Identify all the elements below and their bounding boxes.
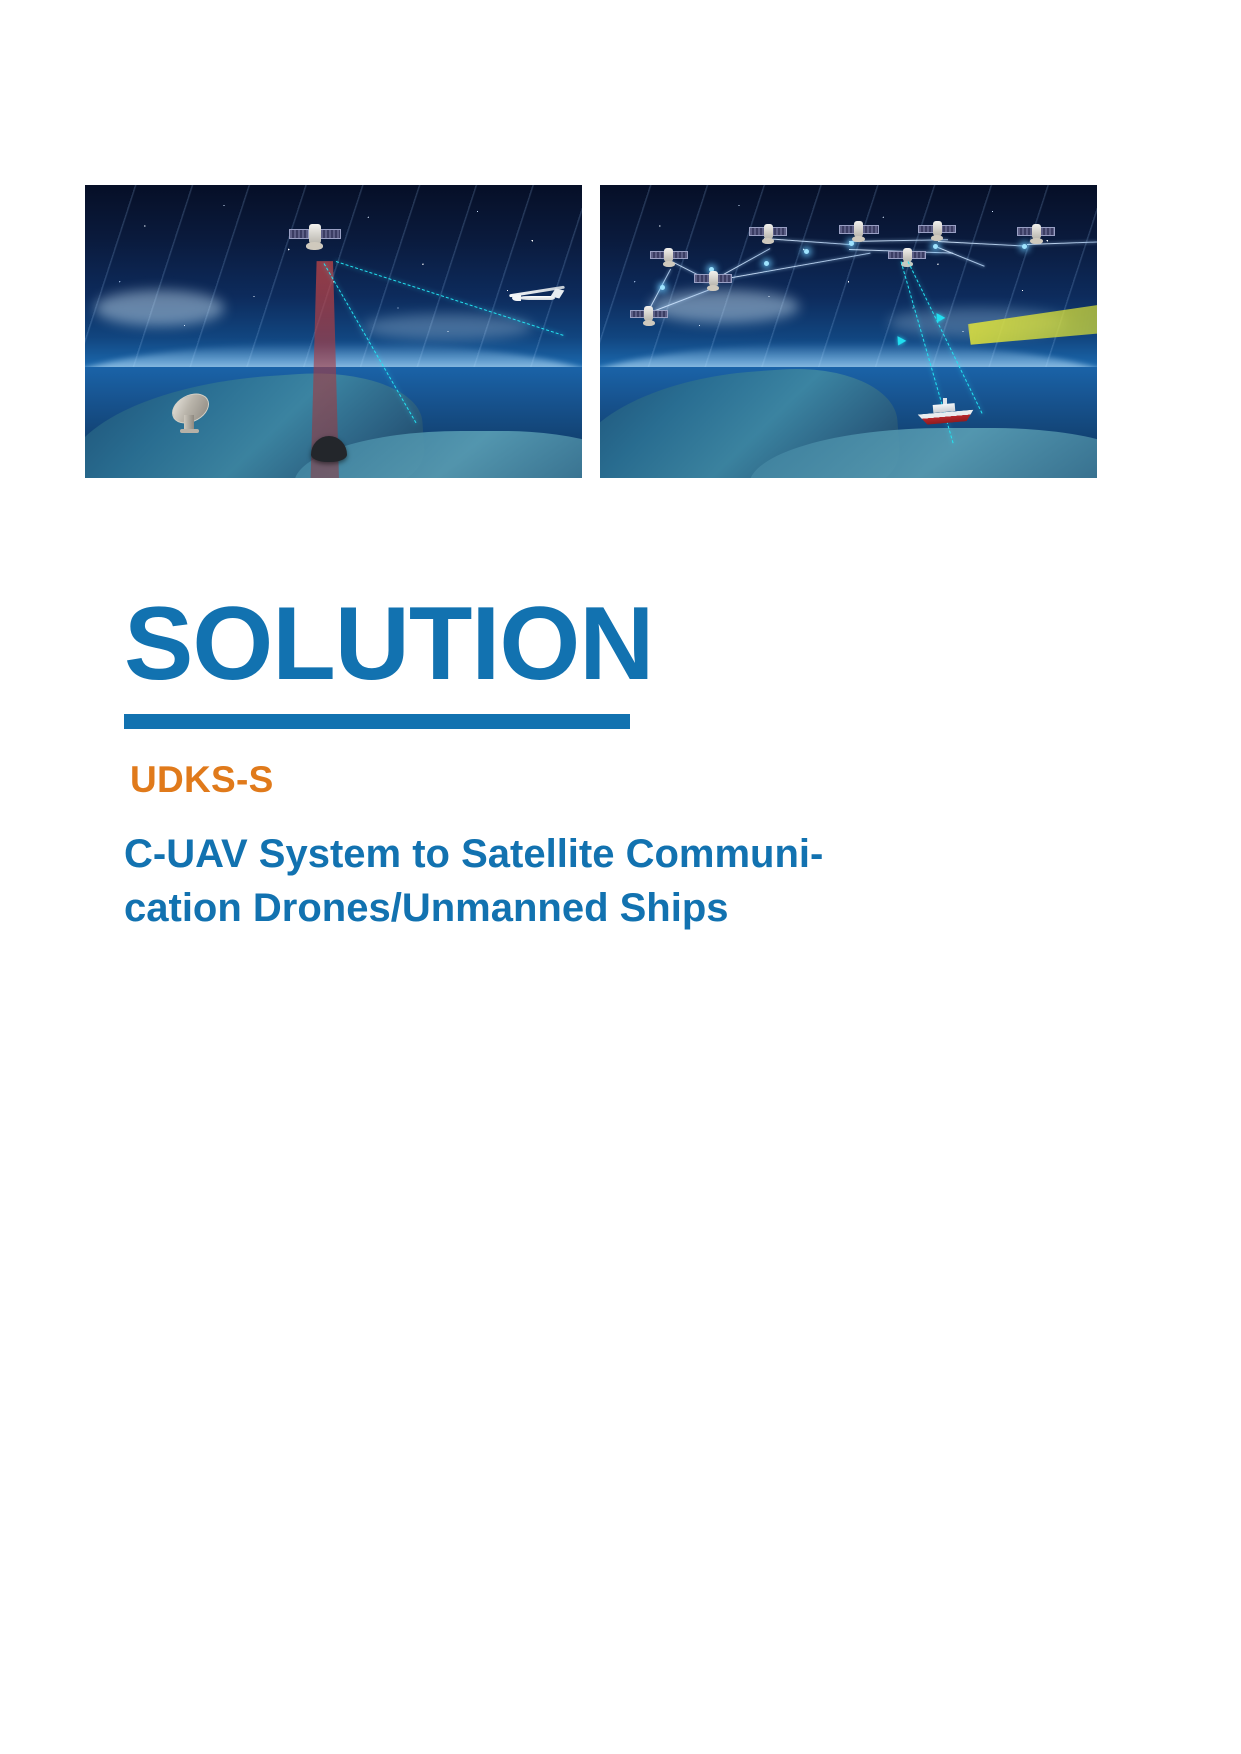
solar-panel-left bbox=[888, 251, 904, 259]
satellite-icon bbox=[650, 247, 688, 264]
link-node bbox=[849, 241, 854, 246]
link-node bbox=[933, 244, 938, 249]
satellite-body bbox=[764, 224, 773, 239]
solar-panel-left bbox=[694, 274, 710, 282]
solar-panel-right bbox=[771, 227, 787, 235]
cloud-patch bbox=[650, 290, 799, 322]
page-title: SOLUTION bbox=[124, 592, 1104, 696]
satellite-body bbox=[664, 248, 673, 263]
satellite-dish bbox=[852, 236, 865, 242]
satellite-icon bbox=[1017, 223, 1055, 240]
product-subtitle-line1: C-UAV System to Satellite Communi- bbox=[124, 827, 1024, 881]
satellite-icon bbox=[630, 305, 668, 322]
cloud-patch bbox=[95, 290, 224, 325]
solar-panel-left bbox=[749, 227, 765, 235]
solar-panel-left bbox=[289, 229, 310, 239]
satellite-body bbox=[1032, 224, 1041, 239]
figure-band bbox=[85, 185, 1155, 478]
satellite-dish bbox=[643, 320, 655, 326]
satellite-icon bbox=[839, 220, 879, 238]
solar-panel-right bbox=[1040, 227, 1056, 235]
figure-left-satellite-uav-link bbox=[85, 185, 582, 478]
satellite-icon bbox=[918, 220, 956, 237]
satellite-body bbox=[854, 221, 864, 237]
product-code-label: UDKS-S bbox=[130, 759, 1104, 801]
satellite-icon bbox=[749, 223, 787, 240]
solar-panel-left bbox=[918, 225, 934, 233]
ground-station-dish-icon bbox=[169, 393, 213, 433]
product-subtitle: C-UAV System to Satellite Communi- catio… bbox=[124, 827, 1024, 935]
title-underline-rule bbox=[124, 714, 630, 729]
satellite-body bbox=[644, 306, 653, 321]
satellite-body bbox=[933, 221, 942, 236]
solar-panel-right bbox=[320, 229, 341, 239]
satellite-icon bbox=[694, 270, 732, 287]
solar-panel-left bbox=[1017, 227, 1033, 235]
satellite-body bbox=[709, 271, 718, 286]
satellite-dish bbox=[1030, 238, 1042, 244]
solar-panel-right bbox=[672, 251, 688, 259]
link-node bbox=[660, 285, 665, 290]
solar-panel-right bbox=[940, 225, 956, 233]
solar-panel-left bbox=[839, 225, 855, 234]
solar-panel-left bbox=[630, 310, 646, 318]
solar-panel-right bbox=[652, 310, 668, 318]
fixed-wing-uav-icon bbox=[507, 285, 565, 311]
satellite-dish bbox=[931, 235, 943, 241]
uav-nose bbox=[512, 295, 521, 301]
uav-fuselage bbox=[517, 296, 555, 300]
solar-panel-right bbox=[862, 225, 878, 234]
solar-panel-right bbox=[911, 251, 927, 259]
satellite-body bbox=[309, 224, 321, 243]
satellite-body bbox=[903, 248, 912, 263]
unmanned-ship-icon bbox=[918, 399, 974, 423]
solution-text-block: SOLUTION UDKS-S C-UAV System to Satellit… bbox=[124, 592, 1104, 935]
satellite-icon bbox=[289, 223, 341, 245]
solar-panel-right bbox=[717, 274, 733, 282]
figure-right-constellation-ship-link bbox=[600, 185, 1097, 478]
satellite-dish bbox=[663, 261, 675, 267]
satellite-dish bbox=[707, 285, 719, 291]
dish-base bbox=[180, 429, 199, 433]
solar-panel-left bbox=[650, 251, 666, 259]
satellite-dish bbox=[306, 242, 323, 249]
product-subtitle-line2: cation Drones/Unmanned Ships bbox=[124, 881, 1024, 935]
satellite-dish bbox=[762, 238, 774, 244]
